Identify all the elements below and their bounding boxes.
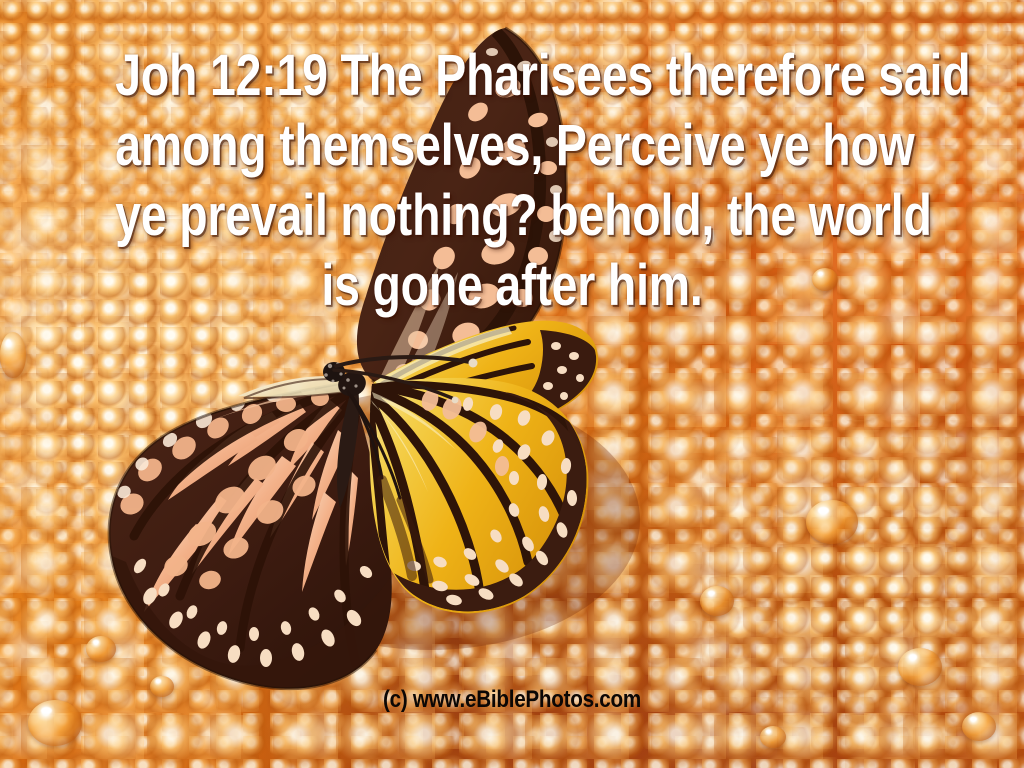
image-canvas: Joh 12:19 The Pharisees therefore said a… — [0, 0, 1024, 768]
verse-line-4: is gone after him. — [115, 251, 909, 321]
watermark-text: (c) www.eBiblePhotos.com — [383, 688, 641, 712]
verse-line-3: ye prevail nothing? behold, the world — [115, 181, 909, 251]
verse-line-1: Joh 12:19 The Pharisees therefore said — [115, 41, 909, 111]
antenna-club — [469, 359, 478, 368]
verse-text-block: Joh 12:19 The Pharisees therefore said a… — [0, 41, 1024, 321]
verse-line-2: among themselves, Perceive ye how — [115, 111, 909, 181]
antenna-club — [452, 397, 459, 404]
watermark: (c) www.eBiblePhotos.com — [0, 688, 1024, 712]
